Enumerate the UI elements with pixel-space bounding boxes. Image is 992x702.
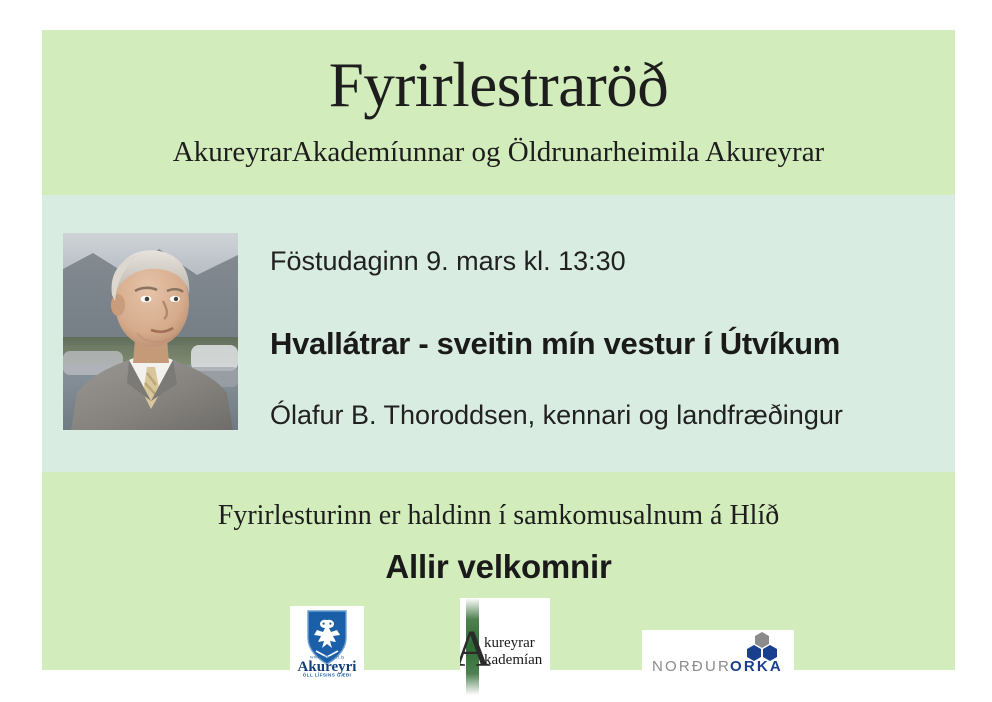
speaker-portrait-photo <box>63 233 238 430</box>
lecture-speaker: Ólafur B. Thoroddsen, kennari og landfræ… <box>270 399 940 431</box>
event-details: Föstudaginn 9. mars kl. 13:30 Hvallátrar… <box>270 245 940 431</box>
logo-akureyrar-akademian: A kureyrar kademían <box>460 598 550 695</box>
event-date: Föstudaginn 9. mars kl. 13:30 <box>270 245 940 277</box>
akademian-line2: kademían <box>484 652 543 668</box>
main-band: Föstudaginn 9. mars kl. 13:30 Hvallátrar… <box>42 195 955 472</box>
footer-band: Fyrirlesturinn er haldinn í samkomusalnu… <box>42 472 955 670</box>
page-title: Fyrirlestraröð <box>42 52 955 118</box>
logo-row: www.akureyri.is Akureyri ÖLL LÍFSINS GÆÐ… <box>42 598 955 698</box>
nordurorka-word-gray: NORÐUR <box>652 658 731 675</box>
header-band: Fyrirlestraröð AkureyrarAkademíunnar og … <box>42 30 955 195</box>
logo-nordurorka: NORÐUR ORKA <box>642 630 794 676</box>
nordurorka-word-blue: ORKA <box>730 658 783 675</box>
welcome-note: Allir velkomnir <box>42 548 955 586</box>
lecture-title: Hvallátrar - sveitin mín vestur í Útvíku… <box>270 325 940 362</box>
akureyri-tagline: ÖLL LÍFSINS GÆÐI <box>303 670 351 677</box>
akademian-line1: kureyrar <box>484 635 535 651</box>
venue-note: Fyrirlesturinn er haldinn í samkomusalnu… <box>42 500 955 532</box>
poster-canvas: Fyrirlestraröð AkureyrarAkademíunnar og … <box>42 30 955 670</box>
logo-akureyri: www.akureyri.is Akureyri ÖLL LÍFSINS GÆÐ… <box>290 606 364 678</box>
page-subtitle: AkureyrarAkademíunnar og Öldrunarheimila… <box>42 136 955 169</box>
